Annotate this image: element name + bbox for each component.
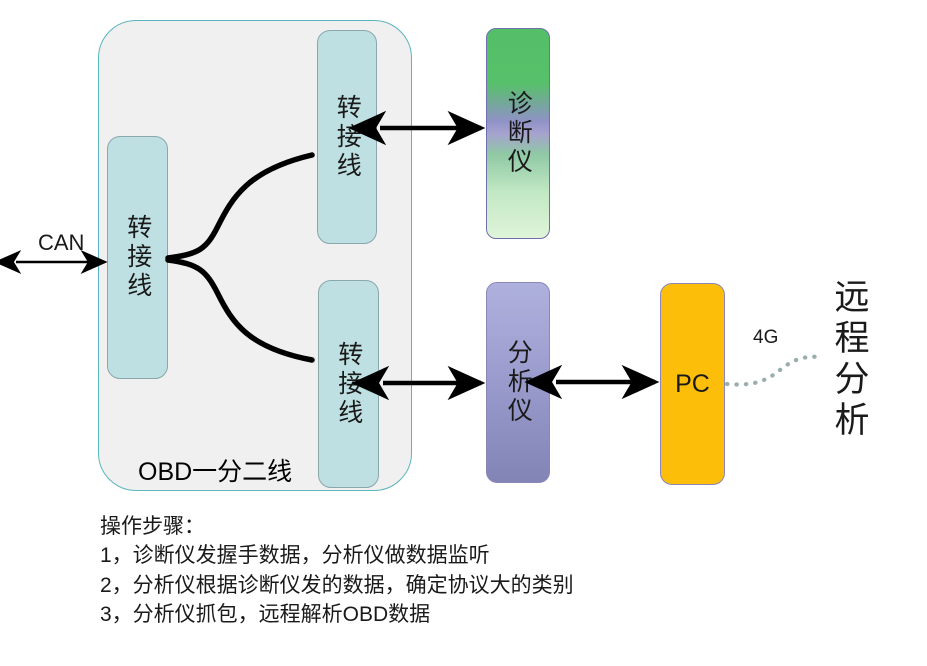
obd-splitter-label: OBD一分二线	[138, 452, 292, 488]
connector-4g-dotted	[727, 357, 822, 385]
label-4g: 4G	[753, 327, 778, 349]
label-can: CAN	[38, 230, 84, 256]
operation-step-3: 3，分析仪抓包，远程解析OBD数据	[100, 600, 574, 629]
diagram-canvas: OBD一分二线 转接线 转接线 转接线 诊断仪 分析仪 PC 远程分析 CAN …	[0, 0, 927, 666]
node-diagnostic-device[interactable]: 诊断仪	[486, 28, 550, 239]
node-adapter-main-label: 转接线	[121, 214, 154, 301]
node-adapter-top-label: 转接线	[331, 94, 364, 181]
node-adapter-top[interactable]: 转接线	[317, 30, 377, 244]
node-adapter-bottom[interactable]: 转接线	[318, 280, 379, 488]
node-analyzer[interactable]: 分析仪	[486, 282, 550, 483]
node-pc-label: PC	[675, 370, 710, 399]
node-analyzer-label: 分析仪	[502, 339, 535, 426]
node-diagnostic-device-label: 诊断仪	[502, 90, 535, 177]
node-adapter-bottom-label: 转接线	[332, 341, 365, 428]
node-remote-analysis: 远程分析	[826, 278, 872, 442]
operation-steps-title: 操作步骤：	[100, 512, 574, 541]
operation-step-2: 2，分析仪根据诊断仪发的数据，确定协议大的类别	[100, 571, 574, 600]
operation-steps: 操作步骤： 1，诊断仪发握手数据，分析仪做数据监听 2，分析仪根据诊断仪发的数据…	[100, 512, 574, 630]
operation-step-1: 1，诊断仪发握手数据，分析仪做数据监听	[100, 541, 574, 570]
node-adapter-main[interactable]: 转接线	[107, 136, 168, 379]
node-pc[interactable]: PC	[660, 283, 725, 485]
